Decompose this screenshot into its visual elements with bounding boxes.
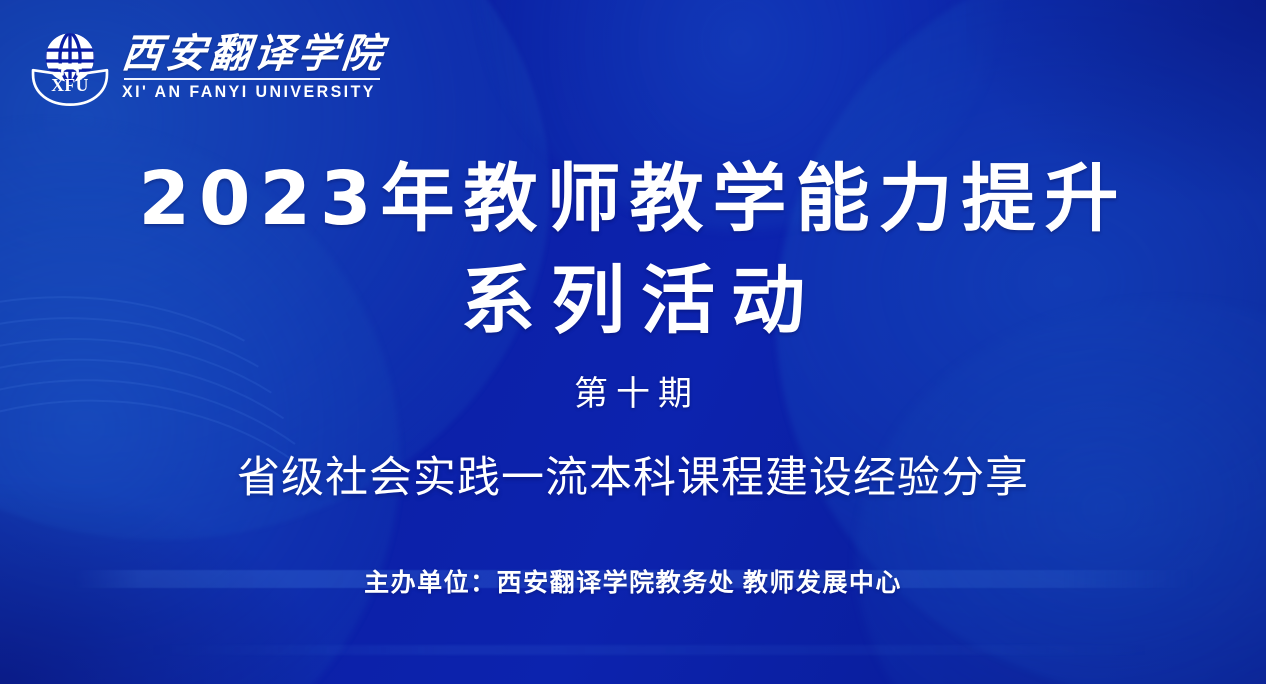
xfu-globe-crest-icon: XFU bbox=[28, 24, 112, 108]
logo-english-name: XI' AN FANYI UNIVERSITY bbox=[122, 82, 376, 102]
headline-line-2: 系列活动 bbox=[0, 250, 1266, 352]
headline-block: 2023年教师教学能力提升 系列活动 bbox=[0, 148, 1266, 352]
headline-line-1: 2023年教师教学能力提升 bbox=[0, 148, 1266, 250]
issue-label: 第十期 bbox=[0, 366, 1266, 415]
university-logo: XFU 西安翻译学院 XI' AN FANYI UNIVERSITY bbox=[28, 24, 392, 108]
course-title: 省级社会实践一流本科课程建设经验分享 bbox=[0, 443, 1266, 505]
logo-divider-rule bbox=[124, 78, 380, 80]
logo-text-lockup: 西安翻译学院 XI' AN FANYI UNIVERSITY bbox=[122, 31, 392, 102]
organizer-line: 主办单位：西安翻译学院教务处 教师发展中心 bbox=[0, 563, 1266, 599]
logo-chinese-name: 西安翻译学院 bbox=[120, 33, 394, 75]
svg-text:XFU: XFU bbox=[51, 75, 88, 95]
presentation-title-slide: XFU 西安翻译学院 XI' AN FANYI UNIVERSITY 2023年… bbox=[0, 0, 1266, 684]
